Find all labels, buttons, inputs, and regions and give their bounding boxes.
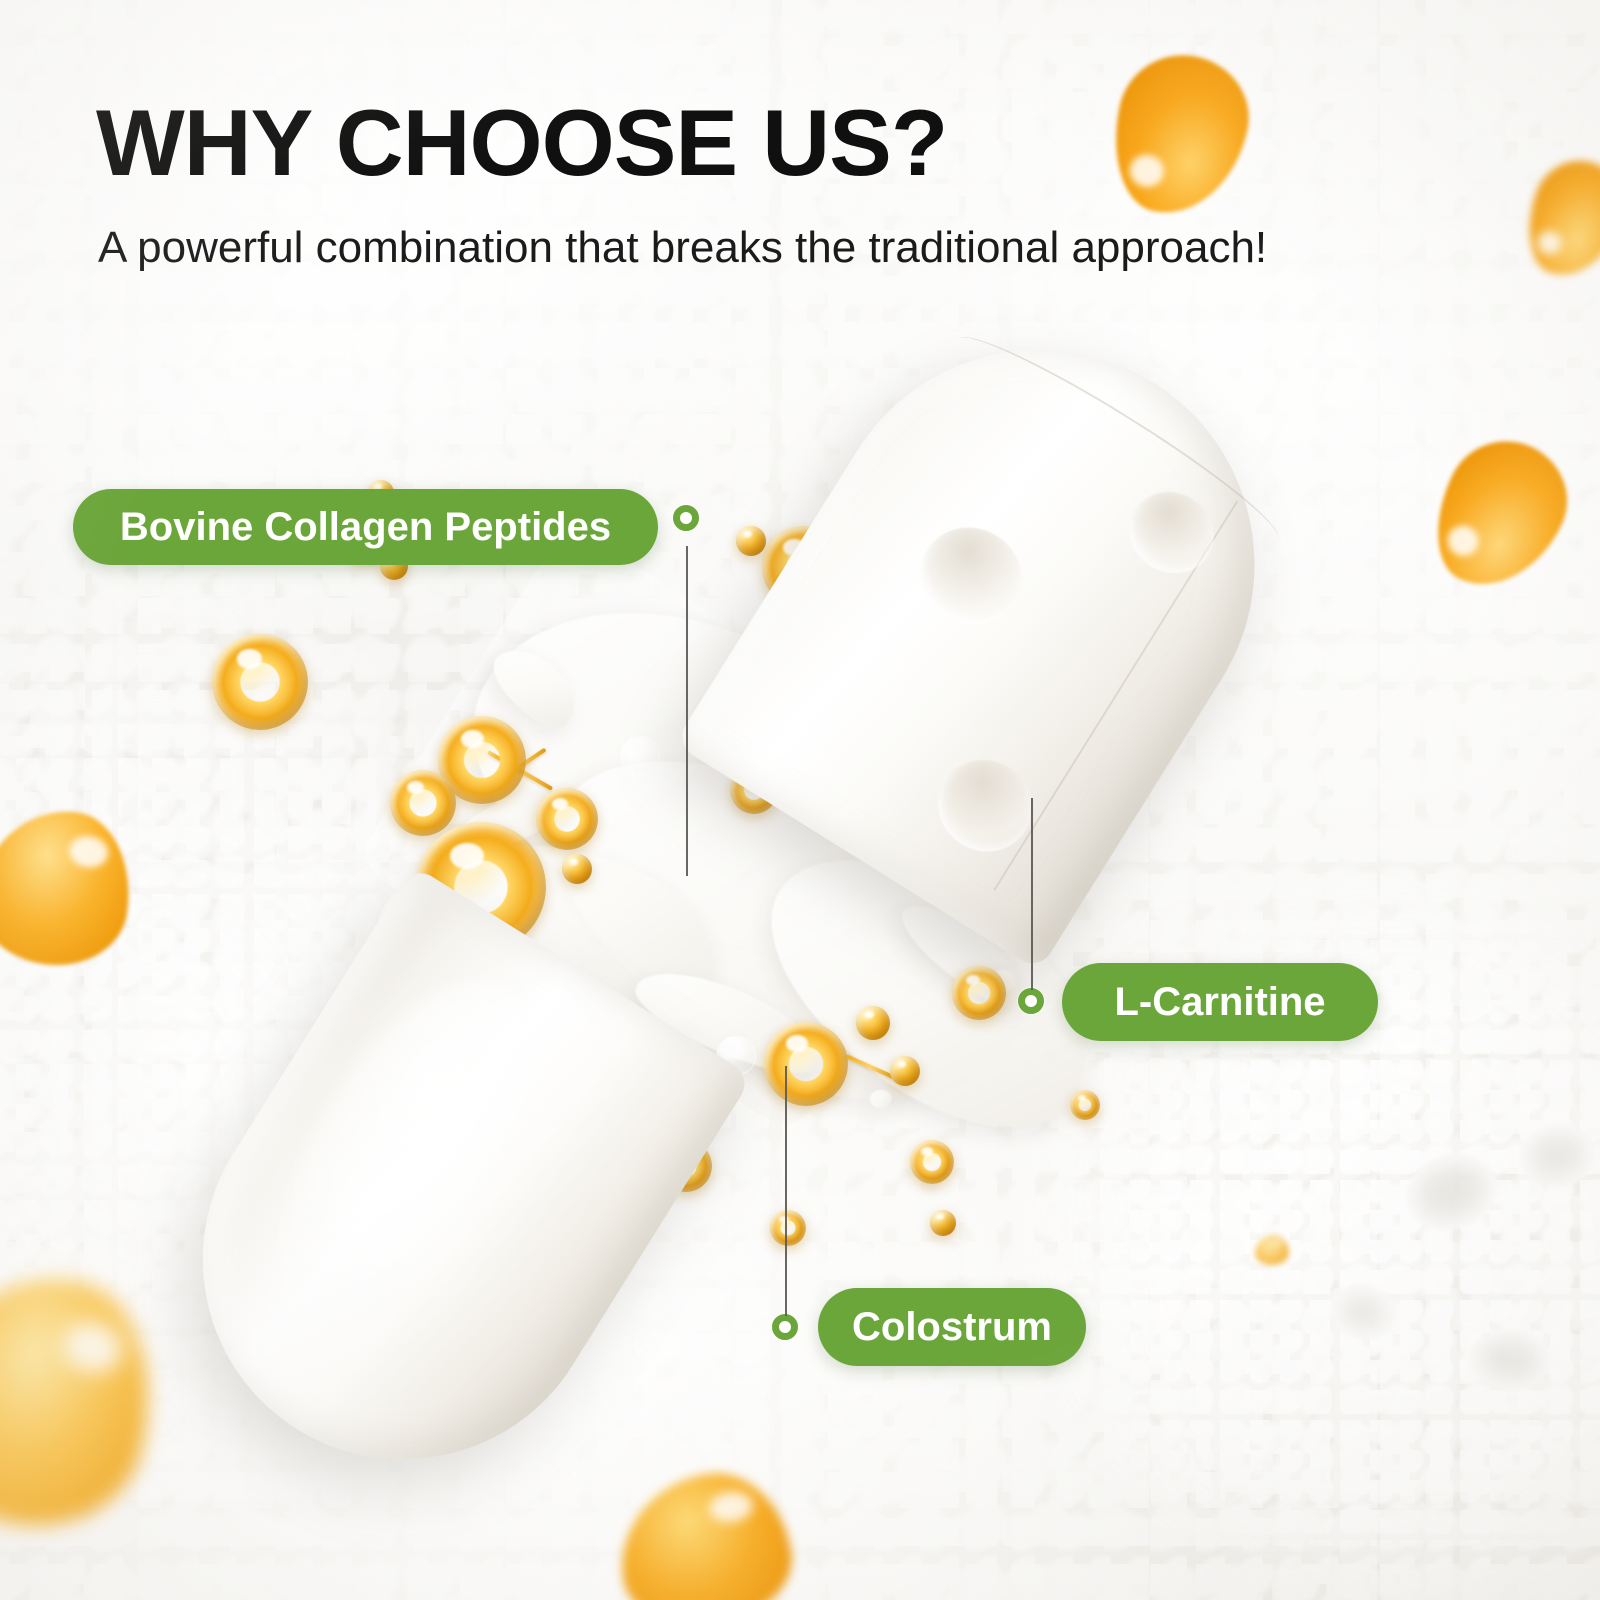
callout-l-carnitine[interactable]: L-Carnitine [1062, 963, 1378, 1041]
connector-dot-bovine [673, 505, 699, 531]
leader-line-lcarnitine [1031, 798, 1033, 990]
callout-label: Bovine Collagen Peptides [120, 505, 611, 550]
connector-dot-colostrum [772, 1314, 798, 1340]
callout-colostrum[interactable]: Colostrum [818, 1288, 1086, 1366]
page-subtitle: A powerful combination that breaks the t… [98, 222, 1267, 275]
leader-line-colostrum [785, 1066, 787, 1316]
infographic-canvas: WHY CHOOSE US? A powerful combination th… [0, 0, 1600, 1600]
leader-line-bovine [686, 546, 688, 876]
callout-bovine-collagen-peptides[interactable]: Bovine Collagen Peptides [73, 489, 658, 565]
golden-droplet [1255, 1235, 1289, 1265]
callout-label: L-Carnitine [1114, 980, 1325, 1025]
page-title: WHY CHOOSE US? [96, 96, 947, 190]
callout-label: Colostrum [852, 1305, 1052, 1350]
connector-dot-lcarnitine [1018, 988, 1044, 1014]
